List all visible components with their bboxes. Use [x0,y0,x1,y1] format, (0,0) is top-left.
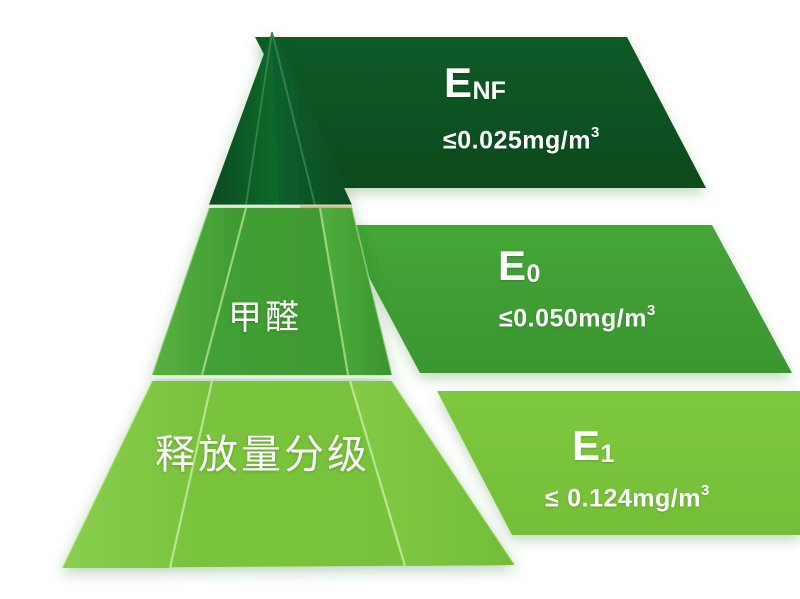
grade-subscript-e0: 0 [527,260,541,288]
limit-label-e0: ≤0.050mg/m3 [499,305,656,331]
band-e1-shape [437,391,800,535]
limit-label-e1: ≤0.124mg/m3 [545,485,710,511]
grade-label-enf: ENF [444,62,506,104]
limit-operator-enf: ≤ [443,126,457,154]
limit-exponent-e1: 3 [701,482,710,499]
limit-operator-e1: ≤ [545,484,559,512]
limit-unit-enf: mg/m [522,126,591,154]
limit-unit-e1: mg/m [632,484,701,512]
limit-value-e1: 0.124 [567,484,632,512]
grade-subscript-enf: NF [473,77,506,105]
grade-label-e0: E0 [498,245,540,287]
limit-unit-e0: mg/m [578,304,647,332]
limit-label-enf: ≤0.025mg/m3 [443,127,600,153]
limit-value-e0: 0.050 [513,304,578,332]
limit-operator-e0: ≤ [499,304,513,332]
grade-label-e1: E1 [572,425,614,467]
grade-letter-enf: E [444,59,473,106]
grade-letter-e0: E [498,242,527,289]
pyramid-label-formaldehyde: 甲醛 [228,290,302,339]
limit-value-enf: 0.025 [457,126,522,154]
limit-exponent-e0: 3 [647,302,656,319]
formaldehyde-grade-pyramid-graphic: ENF ≤0.025mg/m3 E0 ≤0.050mg/m3 E1 ≤0.124… [0,0,800,599]
limit-exponent-enf: 3 [591,124,600,141]
grade-subscript-e1: 1 [601,440,615,468]
band-e0-shape [341,225,792,373]
grade-letter-e1: E [572,422,601,469]
pyramid-label-emission-grading: 释放量分级 [155,422,370,480]
